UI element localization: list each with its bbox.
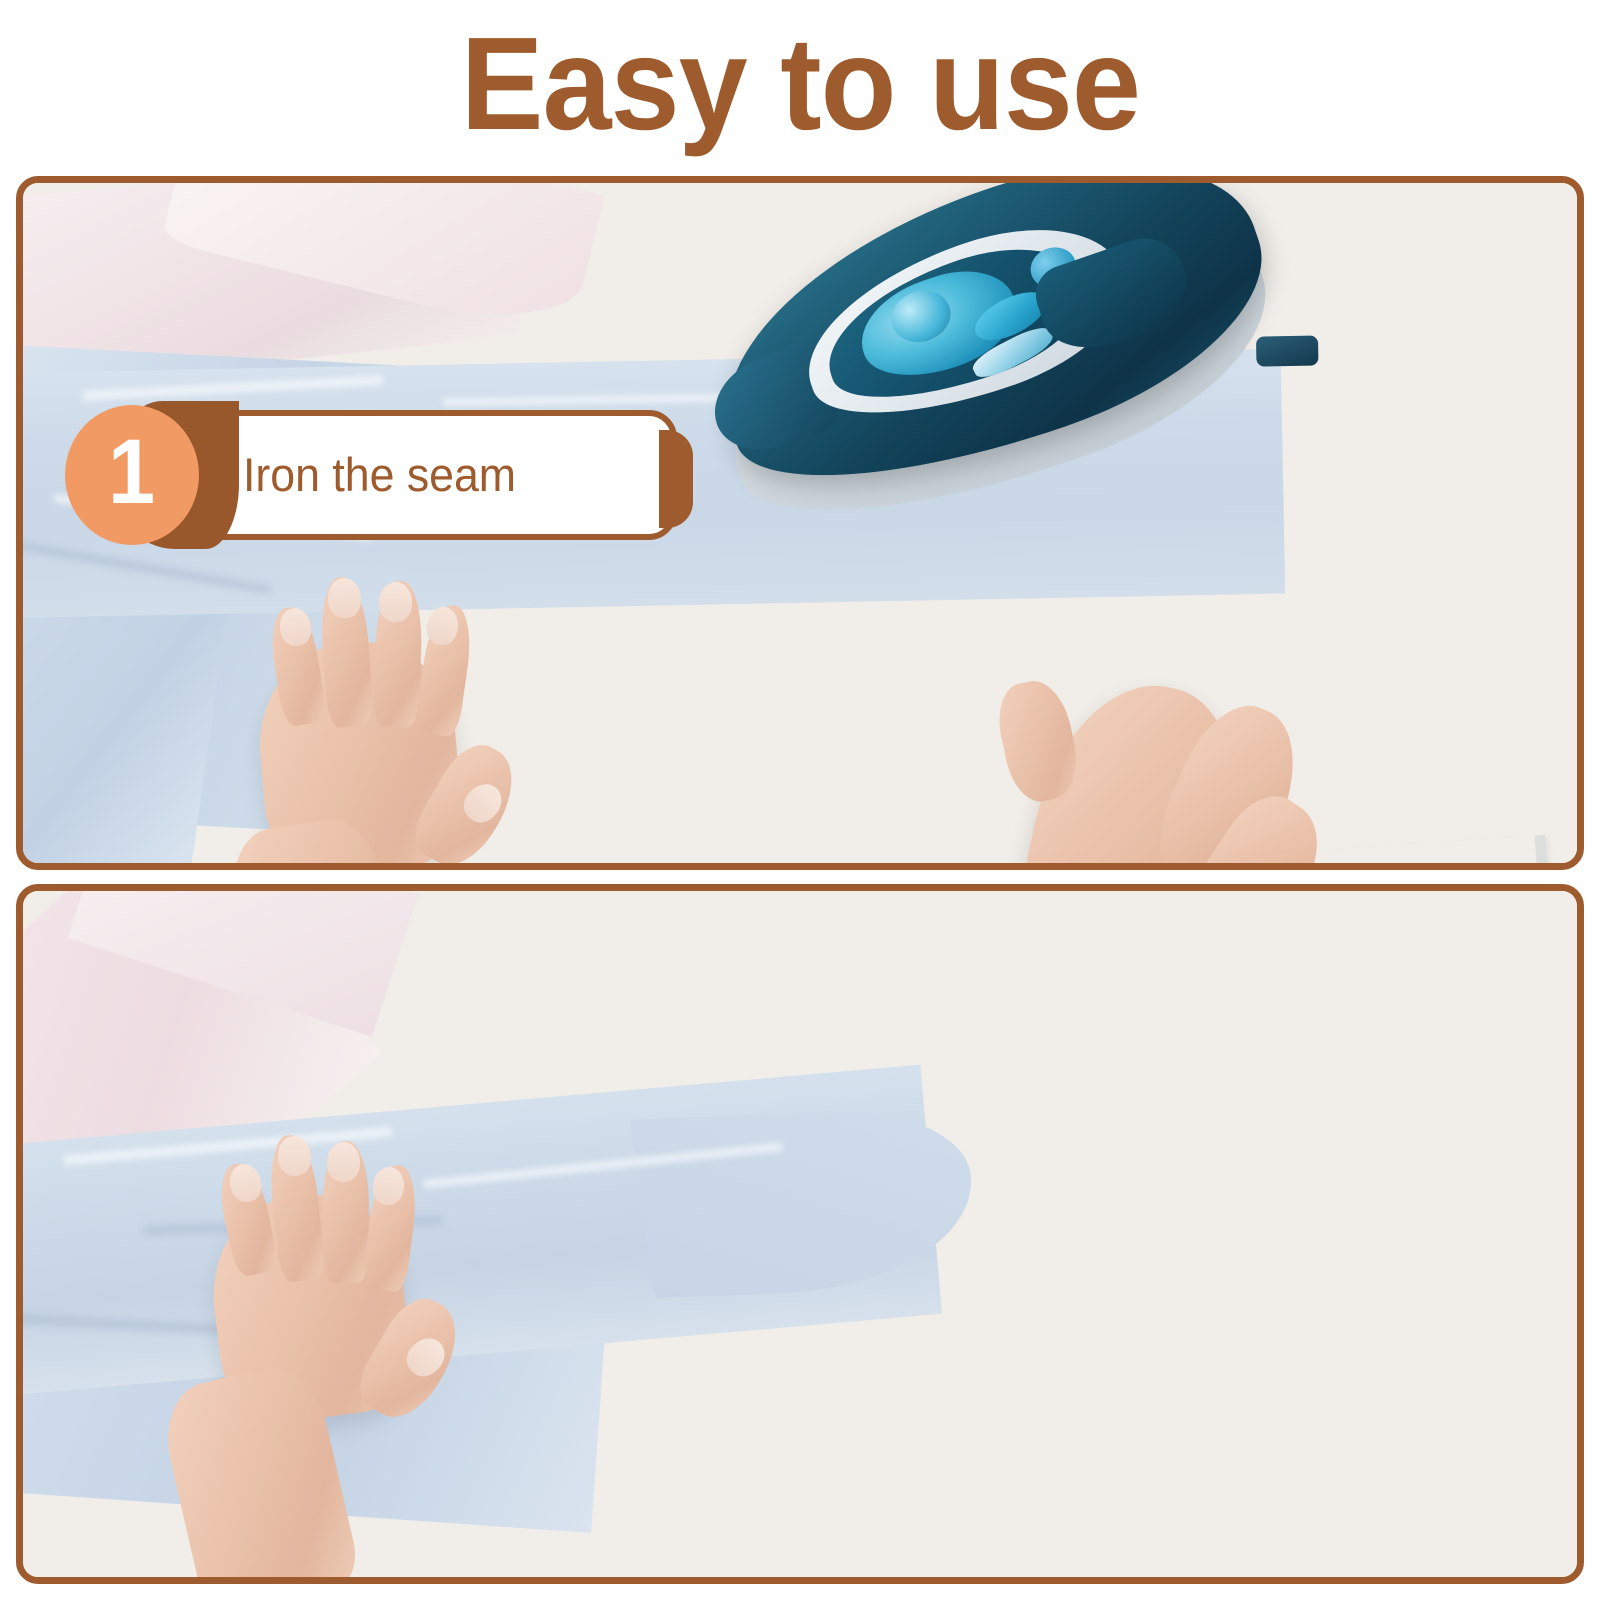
step-1-label-group: 1 Iron the seam	[65, 405, 677, 545]
page-header: Easy to use	[0, 14, 1600, 154]
fingernail	[378, 581, 412, 622]
fingernail	[327, 1142, 360, 1182]
step-2-panel: 2 Press the clapper over the heated area…	[16, 884, 1584, 1584]
step-1-badge-group: 1	[65, 405, 199, 545]
page-title: Easy to use	[460, 18, 1139, 150]
step-2-photo	[23, 891, 1577, 1577]
step-1-panel: 1 Iron the seam	[16, 176, 1584, 870]
step-1-number: 1	[108, 426, 155, 518]
step-1-label-text: Iron the seam	[243, 448, 516, 503]
step-1-label-box: Iron the seam	[163, 410, 677, 540]
iron-cord-connector	[1256, 336, 1319, 367]
step-1-number-badge: 1	[65, 405, 199, 545]
